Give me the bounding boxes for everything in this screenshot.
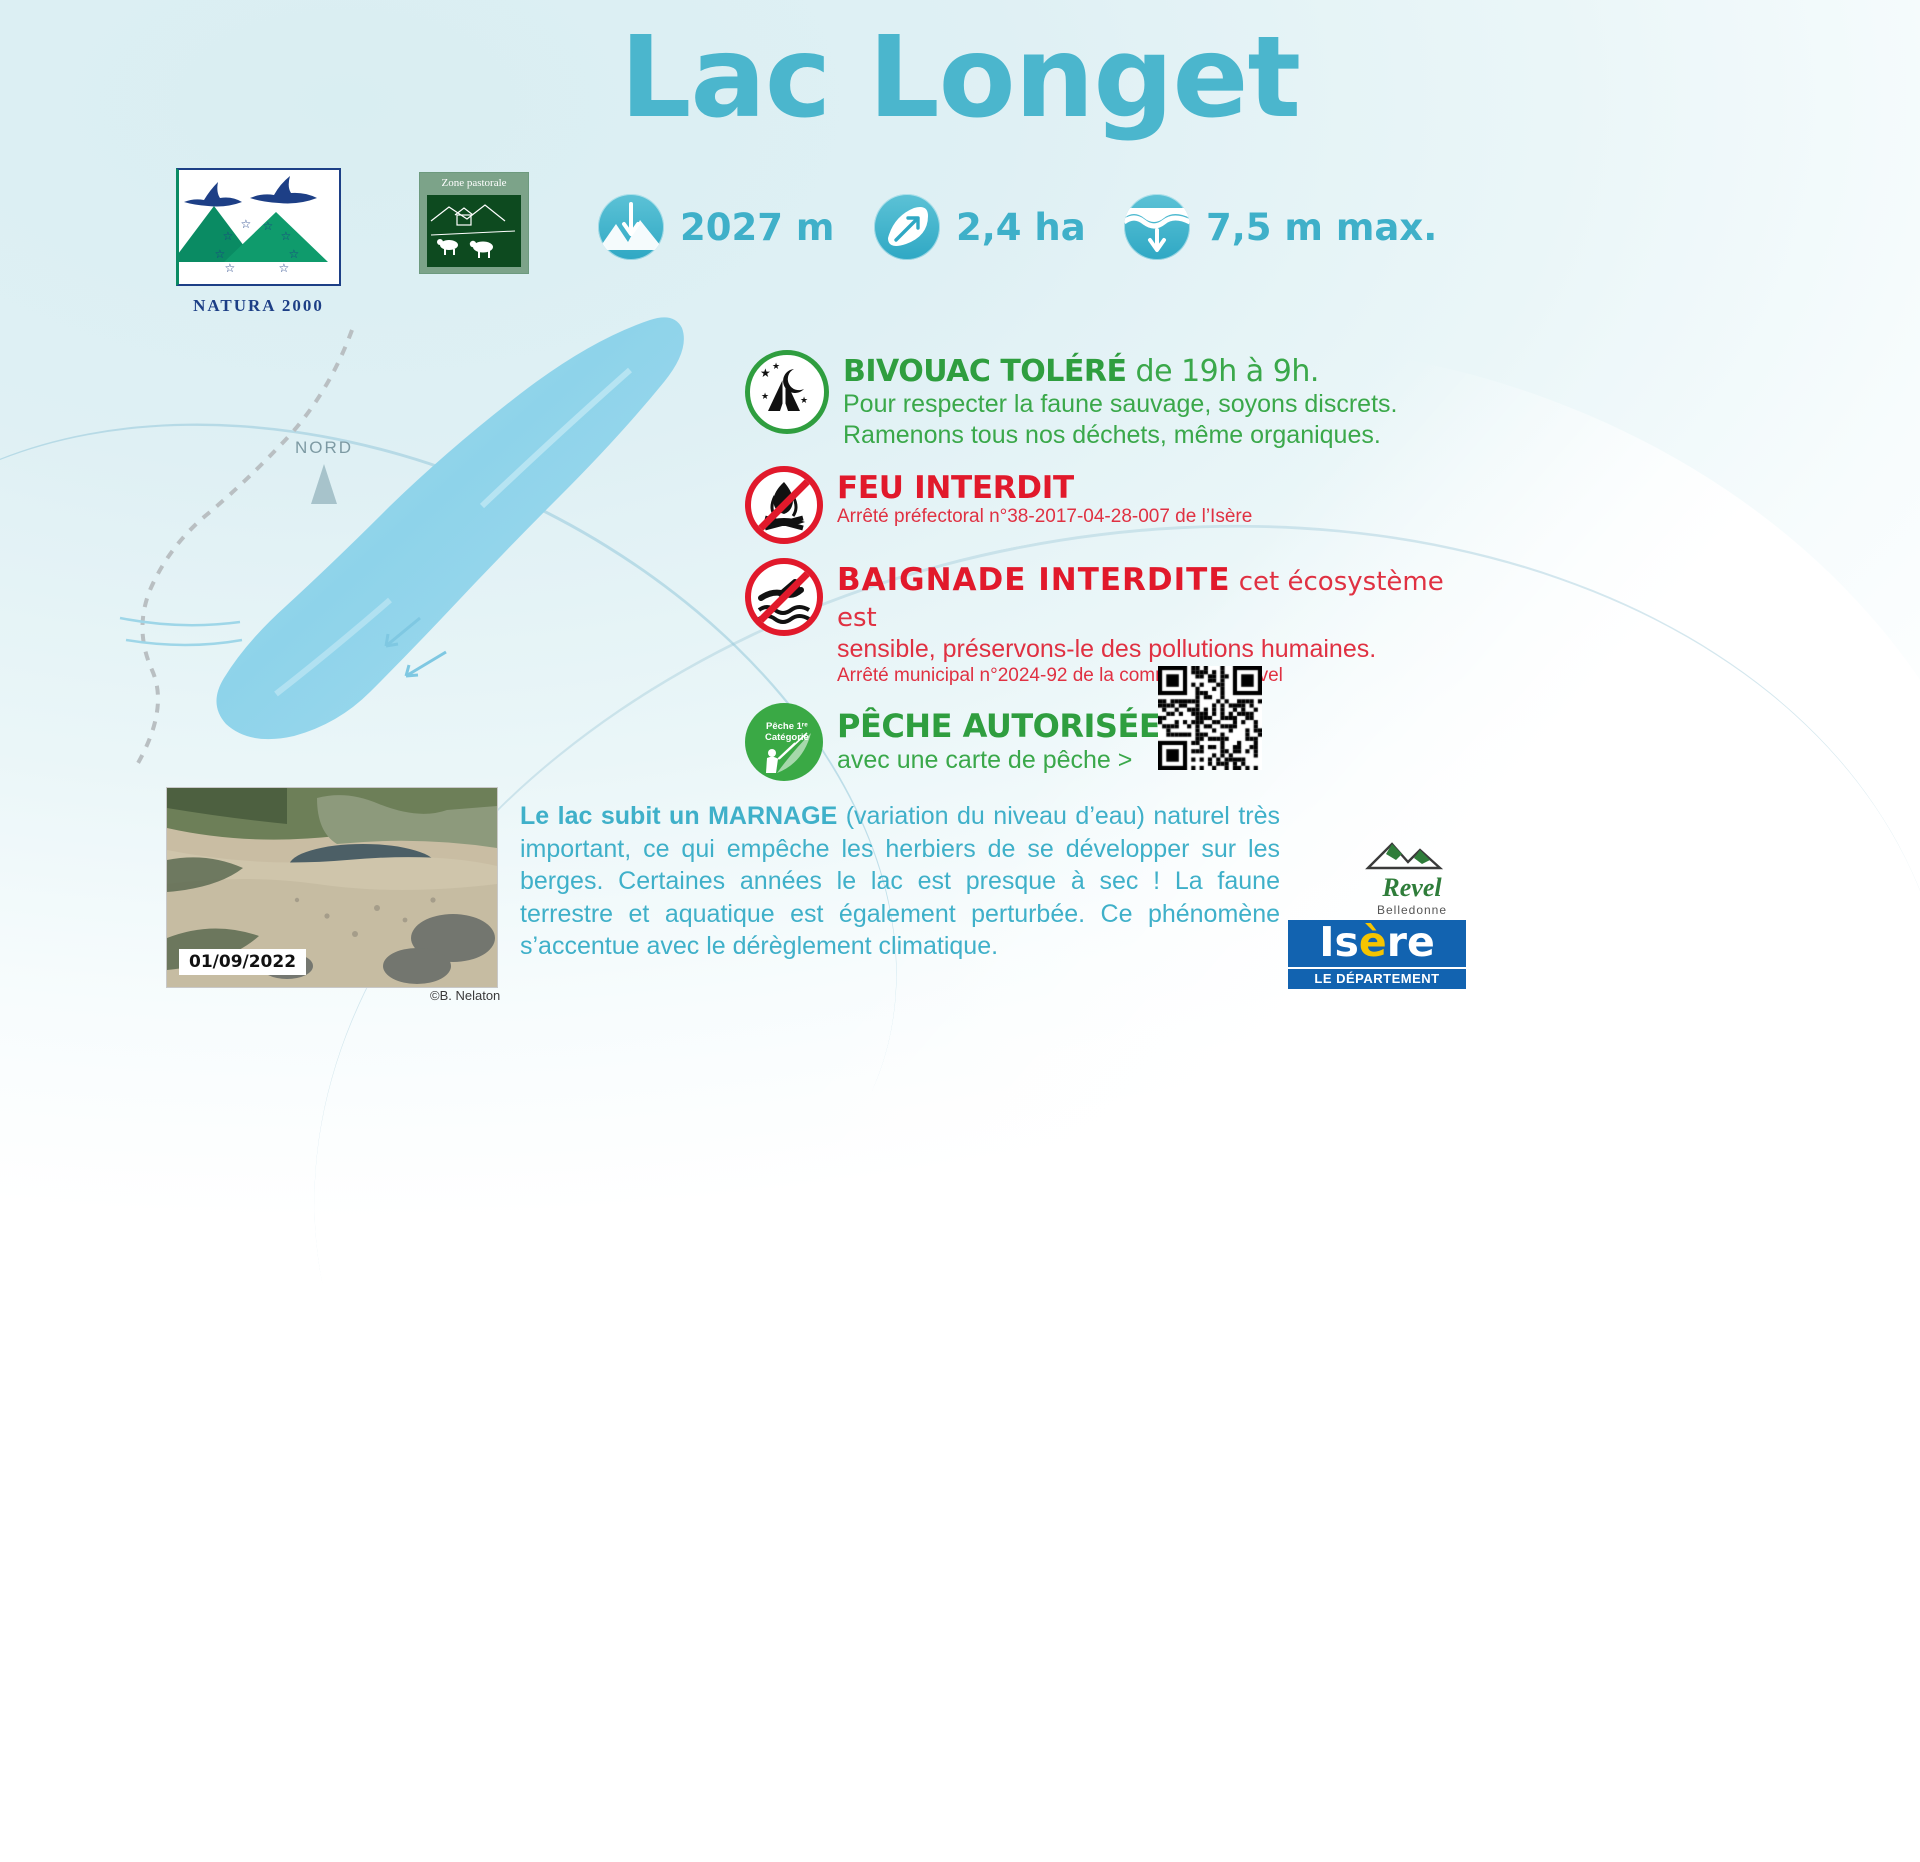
poster-board: Lac Longet ☆☆ ☆☆ ☆☆ ☆☆ NATURA 2000 Zone … bbox=[0, 0, 1920, 1280]
lake-photo: 01/09/2022 bbox=[166, 787, 498, 988]
rule-fire: FEU INTERDIT Arrêté préfectoral n°38-201… bbox=[745, 466, 1475, 544]
lake-map-svg bbox=[90, 300, 730, 810]
marnage-lead: Le lac subit un MARNAGE bbox=[520, 802, 837, 830]
revel-mountain-icon bbox=[1362, 838, 1462, 872]
fishing-heading: PÊCHE AUTORISÉE bbox=[837, 707, 1160, 745]
page-title: Lac Longet bbox=[0, 22, 1920, 134]
rule-bivouac: ★ ★ ★ ★ BIVOUAC TOLÉRÉ de 19h à 9h. Pour… bbox=[745, 350, 1475, 452]
swimming-heading-bold: BAIGNADE INTERDITE bbox=[837, 562, 1231, 598]
fire-heading: FEU INTERDIT bbox=[837, 470, 1252, 506]
isere-departement-logo: Isère LE DÉPARTEMENT bbox=[1288, 920, 1466, 989]
natura-2000-logo: ☆☆ ☆☆ ☆☆ ☆☆ NATURA 2000 bbox=[176, 168, 341, 286]
marnage-paragraph: Le lac subit un MARNAGE (variation du ni… bbox=[520, 800, 1280, 963]
stat-altitude: 2027 m bbox=[598, 194, 834, 260]
rules-list: ★ ★ ★ ★ BIVOUAC TOLÉRÉ de 19h à 9h. Pour… bbox=[745, 350, 1475, 787]
stat-area: 2,4 ha bbox=[874, 194, 1086, 260]
compass-north: NORD bbox=[295, 438, 353, 504]
compass-arrow-icon bbox=[311, 464, 337, 504]
fishing-badge-line1: Pêche 1ʳᵉ bbox=[766, 721, 808, 732]
surface-area-arrow-icon bbox=[874, 194, 940, 260]
swimming-note: Arrêté municipal n°2024-92 de la commune… bbox=[837, 665, 1475, 687]
qr-code-fishing-licence[interactable] bbox=[1158, 666, 1262, 770]
no-campfire-icon bbox=[745, 466, 823, 544]
swimming-heading: BAIGNADE INTERDITE cet écosystème est bbox=[837, 562, 1475, 634]
revel-sub: Belledonne bbox=[1352, 903, 1472, 917]
zone-pastorale-logo: Zone pastorale bbox=[419, 172, 529, 274]
isere-word-b: è bbox=[1359, 918, 1387, 966]
isere-wordmark: Isère bbox=[1288, 920, 1466, 967]
svg-text:★: ★ bbox=[800, 395, 808, 405]
bivouac-line2: Ramenons tous nos déchets, même organiqu… bbox=[843, 420, 1397, 451]
isere-word-c: re bbox=[1387, 918, 1435, 966]
fire-note: Arrêté préfectoral n°38-2017-04-28-007 d… bbox=[837, 506, 1252, 528]
bivouac-heading: BIVOUAC TOLÉRÉ de 19h à 9h. bbox=[843, 354, 1397, 389]
bivouac-line1: Pour respecter la faune sauvage, soyons … bbox=[843, 389, 1397, 420]
bivouac-heading-rest: de 19h à 9h. bbox=[1127, 354, 1319, 389]
mountain-altitude-icon bbox=[598, 194, 664, 260]
revel-belledonne-logo: Revel Belledonne bbox=[1352, 838, 1472, 918]
bivouac-heading-bold: BIVOUAC TOLÉRÉ bbox=[843, 354, 1127, 389]
revel-word: Revel bbox=[1352, 873, 1472, 903]
zone-pastorale-illustration bbox=[427, 195, 521, 267]
water-depth-icon bbox=[1124, 194, 1190, 260]
isere-sub: LE DÉPARTEMENT bbox=[1288, 967, 1466, 989]
svg-text:★: ★ bbox=[761, 391, 769, 401]
photo-credit: ©B. Nelaton bbox=[430, 988, 500, 1003]
rule-fishing: Pêche 1ʳᵉ Catégorie PÊCHE AUTORISÉE avec… bbox=[745, 703, 1475, 781]
no-swimming-icon bbox=[745, 558, 823, 636]
rule-swimming: BAIGNADE INTERDITE cet écosystème est se… bbox=[745, 558, 1475, 687]
stat-depth: 7,5 m max. bbox=[1124, 194, 1437, 260]
stat-area-value: 2,4 ha bbox=[956, 206, 1086, 249]
fishing-allowed-icon: Pêche 1ʳᵉ Catégorie bbox=[745, 703, 823, 781]
compass-label: NORD bbox=[295, 438, 353, 457]
isere-word-a: Is bbox=[1319, 918, 1359, 966]
svg-text:★: ★ bbox=[760, 366, 771, 380]
swimming-line1: sensible, préservons-le des pollutions h… bbox=[837, 634, 1475, 665]
zone-pastorale-label: Zone pastorale bbox=[420, 177, 528, 189]
fishing-badge-line2: Catégorie bbox=[765, 732, 809, 743]
natura-birds-icon bbox=[178, 172, 338, 224]
stat-altitude-value: 2027 m bbox=[680, 206, 834, 249]
photo-date-label: 01/09/2022 bbox=[179, 949, 306, 975]
tent-night-icon: ★ ★ ★ ★ bbox=[745, 350, 829, 428]
fishing-line1: avec une carte de pêche > bbox=[837, 745, 1160, 776]
svg-text:★: ★ bbox=[772, 361, 780, 371]
eu-stars-icon: ☆☆ ☆☆ ☆☆ ☆☆ bbox=[211, 218, 307, 270]
stat-depth-value: 7,5 m max. bbox=[1206, 206, 1437, 249]
lake-map: NORD bbox=[90, 300, 730, 810]
